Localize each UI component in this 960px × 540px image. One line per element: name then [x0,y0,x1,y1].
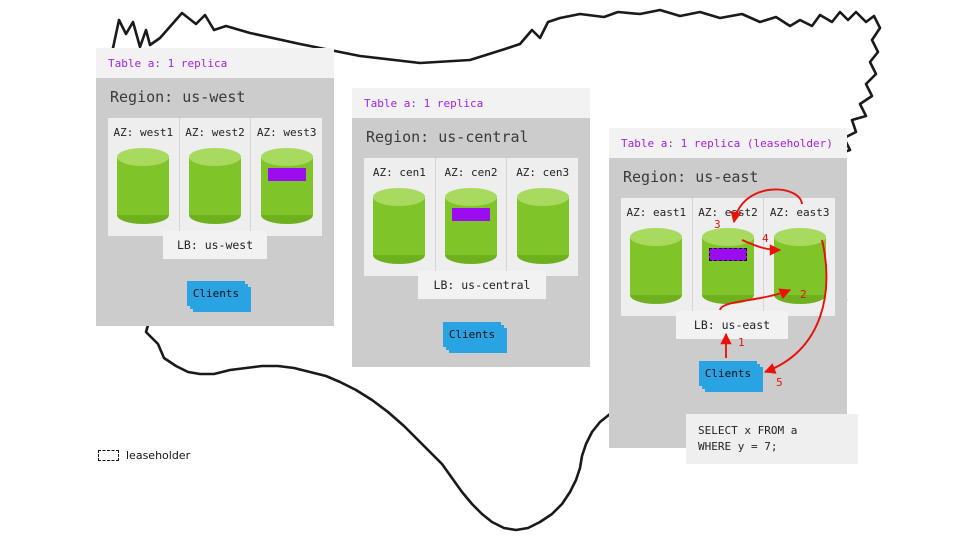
region-header-us-west: Table a: 1 replica [96,48,334,78]
dashed-rect-swatch-icon [98,450,119,461]
node-cylinder-cen1[interactable] [373,188,425,264]
az-cell-east1[interactable]: AZ: east1 [621,198,692,316]
az-label-west2: AZ: west2 [184,126,247,139]
cylinder-top [373,188,425,206]
cylinder-top [117,148,169,166]
az-row-us-west: AZ: west1 AZ: west2 AZ [108,118,322,236]
az-label-west3: AZ: west3 [255,126,318,139]
arrow-number-4: 4 [762,232,769,245]
load-balancer-us-west[interactable]: LB: us-west [163,231,267,259]
arrow-number-1: 1 [738,336,745,349]
node-cylinder-west3[interactable] [261,148,313,224]
cylinder-top [774,228,826,246]
node-cylinder-east1[interactable] [630,228,682,304]
replica-block-west3 [268,168,306,181]
legend-label: leaseholder [126,449,190,462]
az-cell-cen3[interactable]: AZ: cen3 [506,158,578,276]
cylinder-top [630,228,682,246]
region-title-us-east: Region: us-east [621,158,835,198]
sql-query-panel: SELECT x FROM a WHERE y = 7; [686,414,858,464]
az-label-east3: AZ: east3 [768,206,831,219]
node-cylinder-west2[interactable] [189,148,241,224]
az-label-cen1: AZ: cen1 [368,166,431,179]
load-balancer-us-east[interactable]: LB: us-east [676,311,788,339]
cylinder-top [445,188,497,206]
az-cell-west3[interactable]: AZ: west3 [250,118,322,236]
region-title-us-west: Region: us-west [108,78,322,118]
load-balancer-us-central[interactable]: LB: us-central [418,271,546,299]
clients-label-us-west: Clients [187,281,245,306]
az-cell-east2[interactable]: AZ: east2 [692,198,764,316]
region-panel-us-east: Table a: 1 replica (leaseholder) Region:… [609,128,847,448]
arrow-number-3: 3 [714,218,721,231]
node-cylinder-cen3[interactable] [517,188,569,264]
clients-card-us-west[interactable]: Clients [187,281,245,306]
az-cell-west1[interactable]: AZ: west1 [108,118,179,236]
cylinder-top [189,148,241,166]
az-cell-west2[interactable]: AZ: west2 [179,118,251,236]
az-label-east1: AZ: east1 [625,206,688,219]
clients-label-us-east: Clients [699,361,757,386]
region-body-us-east: Region: us-east AZ: east1 AZ: east2 [609,158,847,448]
az-label-cen2: AZ: cen2 [440,166,503,179]
node-cylinder-cen2[interactable] [445,188,497,264]
cylinder-top [517,188,569,206]
replica-block-cen2 [452,208,490,221]
legend-leaseholder: leaseholder [98,449,190,462]
clients-card-us-central[interactable]: Clients [443,322,501,347]
diagram-canvas: Table a: 1 replica Region: us-west AZ: w… [0,0,960,540]
region-header-us-east: Table a: 1 replica (leaseholder) [609,128,847,158]
leaseholder-block-east2 [709,248,747,261]
clients-label-us-central: Clients [443,322,501,347]
cylinder-top [261,148,313,166]
az-label-cen3: AZ: cen3 [511,166,574,179]
az-label-west1: AZ: west1 [112,126,175,139]
cylinder-top [702,228,754,246]
az-label-east2: AZ: east2 [697,206,760,219]
az-cell-cen2[interactable]: AZ: cen2 [435,158,507,276]
region-title-us-central: Region: us-central [364,118,578,158]
arrow-number-5: 5 [776,376,783,389]
az-row-us-central: AZ: cen1 AZ: cen2 [364,158,578,276]
az-cell-cen1[interactable]: AZ: cen1 [364,158,435,276]
region-header-us-central: Table a: 1 replica [352,88,590,118]
arrow-number-2: 2 [800,288,807,301]
node-cylinder-west1[interactable] [117,148,169,224]
clients-card-us-east[interactable]: Clients [699,361,757,386]
node-cylinder-east2[interactable] [702,228,754,304]
